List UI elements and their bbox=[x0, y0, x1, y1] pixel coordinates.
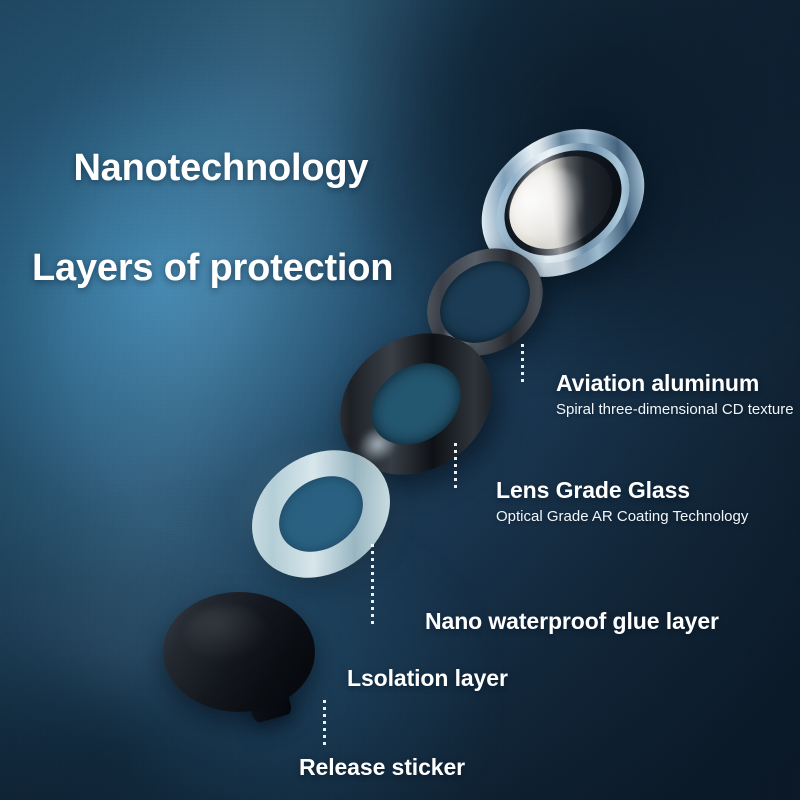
page-title: Nanotechnology Layers of protection bbox=[32, 93, 393, 394]
callout-nano-waterproof-glue-layer: Nano waterproof glue layer bbox=[425, 608, 765, 635]
callout-title: Nano waterproof glue layer bbox=[425, 608, 765, 635]
leader-line-aviation-aluminum bbox=[521, 344, 524, 386]
callout-aviation-aluminum: Aviation aluminum Spiral three-dimension… bbox=[556, 370, 796, 419]
callout-release-sticker: Release sticker bbox=[299, 754, 559, 781]
callout-title: Lens Grade Glass bbox=[496, 477, 796, 504]
callout-lens-grade-glass: Lens Grade Glass Optical Grade AR Coatin… bbox=[496, 477, 796, 526]
product-infographic: Nanotechnology Layers of protection Avia… bbox=[0, 0, 800, 800]
headline-line-2: Layers of protection bbox=[32, 243, 393, 293]
callout-title: Aviation aluminum bbox=[556, 370, 796, 397]
leader-line-release-sticker bbox=[323, 700, 326, 746]
callout-isolation-layer: Lsolation layer bbox=[347, 665, 607, 692]
callout-subtitle: Spiral three-dimensional CD texture bbox=[556, 400, 796, 420]
callout-title: Release sticker bbox=[299, 754, 559, 781]
leader-line-lens-grade-glass bbox=[454, 443, 457, 491]
leader-line-nano-glue bbox=[371, 544, 374, 626]
release-sticker-highlight bbox=[185, 606, 271, 662]
callout-subtitle: Optical Grade AR Coating Technology bbox=[496, 507, 796, 527]
callout-title: Lsolation layer bbox=[347, 665, 607, 692]
headline-line-1: Nanotechnology bbox=[73, 147, 368, 189]
